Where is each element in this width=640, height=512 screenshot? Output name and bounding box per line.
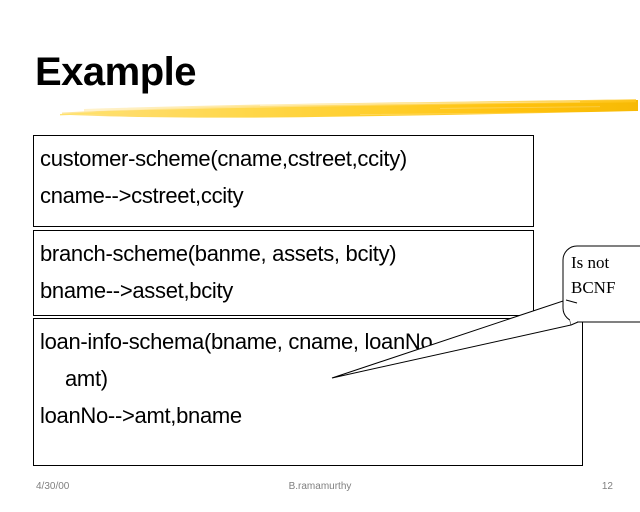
schema-line: loanNo-->amt,bname bbox=[40, 397, 438, 434]
schema-lines: loan-info-schema(bname, cname, loanNo, a… bbox=[34, 319, 444, 434]
schema-line: customer-scheme(cname,cstreet,ccity) bbox=[40, 140, 407, 177]
title-brush-stroke-divider bbox=[60, 93, 640, 127]
schema-box-branch-scheme: branch-scheme(banme, assets, bcity) bnam… bbox=[33, 230, 534, 316]
schema-lines: branch-scheme(banme, assets, bcity) bnam… bbox=[34, 231, 402, 309]
schema-box-customer-scheme: customer-scheme(cname,cstreet,ccity) cna… bbox=[33, 135, 534, 227]
footer-author: B.ramamurthy bbox=[0, 480, 640, 494]
callout-label: Is not BCNF bbox=[571, 250, 640, 300]
schema-line: amt) bbox=[40, 360, 438, 397]
schema-line: loan-info-schema(bname, cname, loanNo, bbox=[40, 323, 438, 360]
schema-box-loan-info-schema: loan-info-schema(bname, cname, loanNo, a… bbox=[33, 318, 583, 466]
schema-line: branch-scheme(banme, assets, bcity) bbox=[40, 235, 396, 272]
footer-page-number: 12 bbox=[602, 480, 613, 494]
page-title: Example bbox=[35, 49, 196, 95]
slide-footer: 4/30/00 B.ramamurthy 12 bbox=[0, 480, 640, 500]
schema-line: cname-->cstreet,ccity bbox=[40, 177, 407, 214]
schema-line: bname-->asset,bcity bbox=[40, 272, 396, 309]
schema-lines: customer-scheme(cname,cstreet,ccity) cna… bbox=[34, 136, 413, 214]
slide-canvas: Example bbox=[0, 0, 640, 512]
